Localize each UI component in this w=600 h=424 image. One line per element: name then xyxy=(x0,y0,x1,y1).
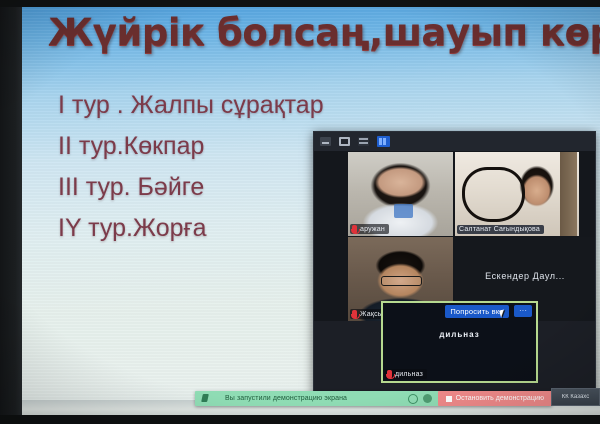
background-frame xyxy=(462,167,525,222)
participant-tile-highlighted[interactable]: Попросить вкл ··· дильназ дильназ xyxy=(381,301,538,383)
background-door xyxy=(560,152,576,236)
stop-share-button[interactable]: Остановить демонстрацию xyxy=(438,391,552,406)
participant-tile-top-left[interactable]: аружан xyxy=(348,152,453,236)
screen-share-status-bar: Вы запустили демонстрацию экрана Останов… xyxy=(195,391,552,406)
taskbar-item-label: КК Казахс xyxy=(562,394,589,400)
projected-screen-photo: Жүйрік болсаң,шауып көр! I тур . Жалпы с… xyxy=(0,0,600,424)
eyeglasses xyxy=(381,276,423,286)
list-item: I тур . Жалпы сұрақтар xyxy=(58,89,324,122)
more-options-button[interactable]: ··· xyxy=(514,305,532,317)
list-item: III тур. Бәйге xyxy=(58,171,324,204)
participant-grid: аружан Салтанат Сағындықова Жақсыл xyxy=(314,151,595,321)
share-status-text: Вы запустили демонстрацию экрана xyxy=(225,395,347,402)
screen-edge-top xyxy=(0,0,600,7)
participant-placeholder-name: Ескендер Даул... xyxy=(455,271,595,281)
screen-share-icon xyxy=(200,393,211,404)
microphone-muted-icon xyxy=(387,370,392,378)
stop-share-label: Остановить демонстрацию xyxy=(456,395,544,402)
participant-name: аружан xyxy=(360,226,385,233)
list-item: II тур.Көкпар xyxy=(58,130,324,163)
participant-name-badge: аружан xyxy=(350,224,389,234)
microphone-muted-icon xyxy=(352,310,357,318)
participant-name: Салтанат Сағындықова xyxy=(459,226,540,233)
webcam-video xyxy=(455,152,579,236)
restore-icon[interactable] xyxy=(358,137,369,146)
window-title-bar xyxy=(314,132,595,151)
list-item: IY тур.Жорға xyxy=(58,212,324,245)
participant-tile-top-right[interactable]: Салтанат Сағындықова xyxy=(455,152,579,236)
taskbar-item-kazakh[interactable]: КК Казахс xyxy=(551,388,600,406)
maximize-icon[interactable] xyxy=(339,137,350,146)
agenda-list: I тур . Жалпы сұрақтар II тур.Көкпар III… xyxy=(58,89,324,253)
page-title: Жүйрік болсаң,шауып көр! xyxy=(48,11,578,54)
gallery-view-icon[interactable] xyxy=(377,136,390,147)
participant-name: дильназ xyxy=(395,371,423,378)
pause-share-icon[interactable] xyxy=(408,394,418,404)
annotate-icon[interactable] xyxy=(423,394,432,403)
screen-edge-left xyxy=(0,0,22,424)
participant-name-badge: дильназ xyxy=(385,369,427,379)
screen-edge-bottom xyxy=(0,415,600,424)
participant-name-badge: Салтанат Сағындықова xyxy=(457,225,544,234)
stop-square-icon xyxy=(446,396,452,402)
microphone-muted-icon xyxy=(352,225,357,233)
participant-placeholder-name: дильназ xyxy=(383,330,536,339)
minimize-icon[interactable] xyxy=(320,137,331,146)
